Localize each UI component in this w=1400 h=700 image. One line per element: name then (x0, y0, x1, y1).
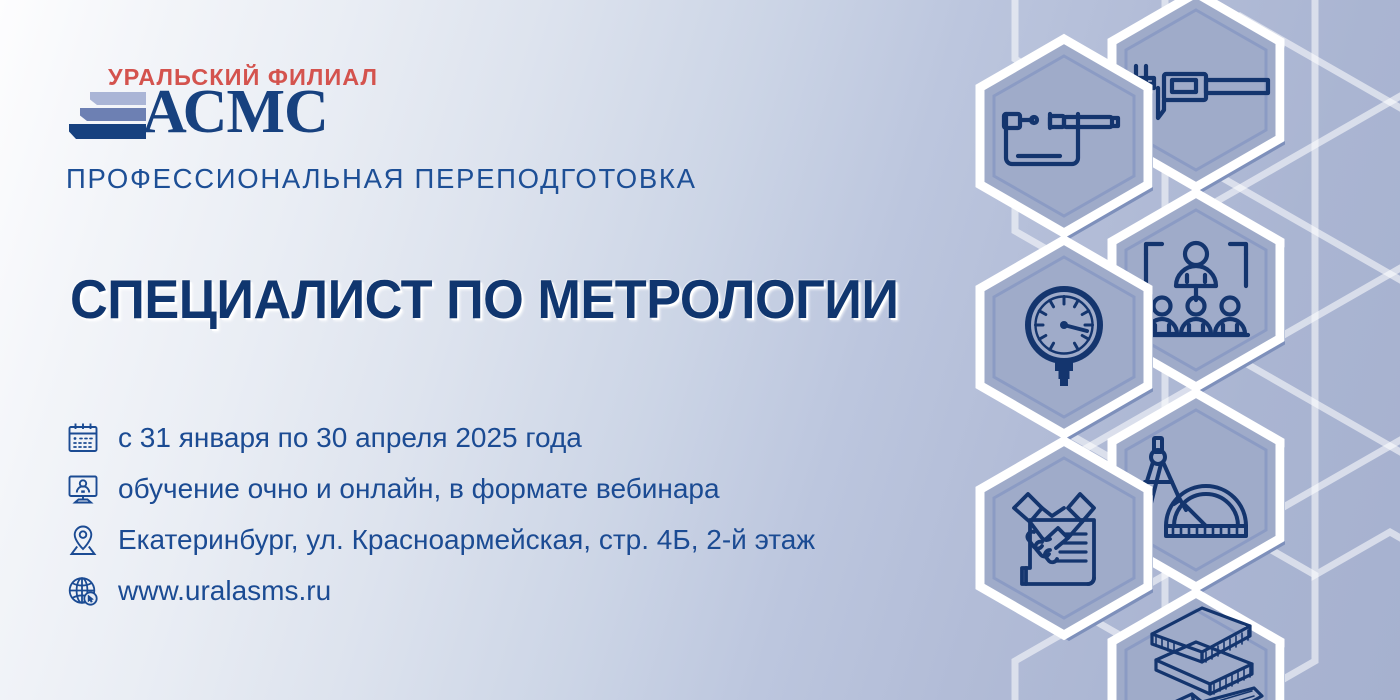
program-headline: СПЕЦИАЛИСТ ПО МЕТРОЛОГИИ (70, 267, 898, 331)
hex-tile-books[interactable] (1112, 593, 1285, 700)
info-row-dates: с 31 января по 30 апреля 2025 года (66, 412, 815, 463)
webinar-monitor-icon (66, 472, 118, 506)
info-text-address: Екатеринбург, ул. Красноармейская, стр. … (118, 524, 815, 556)
stacked-books-mark (66, 90, 146, 150)
info-text-website[interactable]: www.uralasms.ru (118, 575, 331, 607)
info-text-dates: с 31 января по 30 апреля 2025 года (118, 422, 582, 454)
info-row-format: обучение очно и онлайн, в формате вебина… (66, 463, 815, 514)
asms-wordmark: АСМС (142, 81, 328, 143)
program-subtitle: ПРОФЕССИОНАЛЬНАЯ ПЕРЕПОДГОТОВКА (66, 163, 697, 195)
info-text-format: обучение очно и онлайн, в формате вебина… (118, 473, 720, 505)
hex-icon-tiles (940, 0, 1400, 700)
promo-banner: УРАЛЬСКИЙ ФИЛИАЛ АСМС ПРОФЕССИОНАЛЬНАЯ П… (0, 0, 1400, 700)
info-list: с 31 января по 30 апреля 2025 года обуче… (66, 412, 815, 616)
calendar-icon (66, 421, 118, 455)
left-content: УРАЛЬСКИЙ ФИЛИАЛ АСМС ПРОФЕССИОНАЛЬНАЯ П… (0, 0, 980, 700)
globe-cursor-icon (66, 574, 118, 608)
info-row-website[interactable]: www.uralasms.ru (66, 565, 815, 616)
info-row-address: Екатеринбург, ул. Красноармейская, стр. … (66, 514, 815, 565)
location-pin-icon (66, 523, 118, 557)
